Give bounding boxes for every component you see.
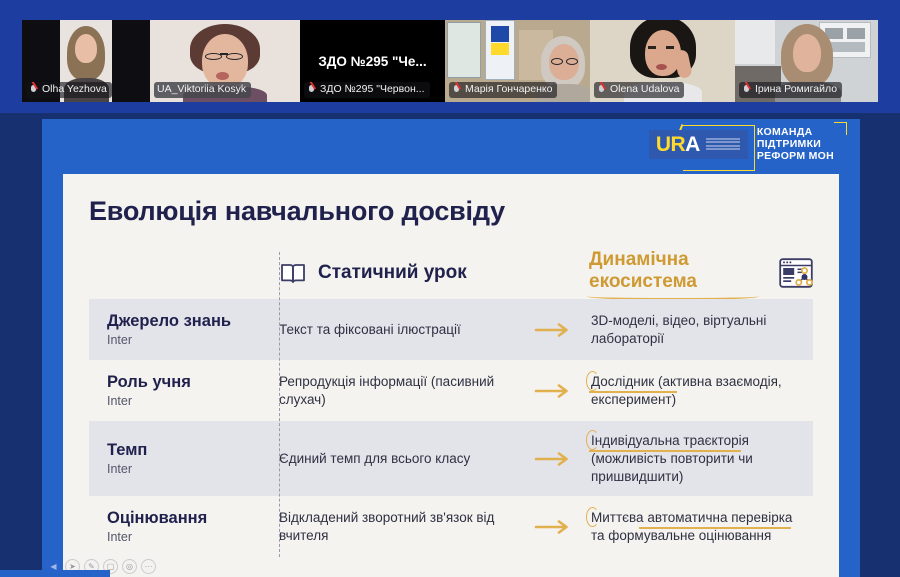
presentation-slide: URA КОМАНДА ПІДТРИМКИ РЕФОРМ МОН Еволю — [42, 119, 860, 577]
column-divider — [279, 252, 280, 557]
more-icon[interactable]: ··· — [141, 559, 156, 574]
row-arrow-cell — [525, 496, 587, 557]
spotlight-icon[interactable]: ◎ — [122, 559, 137, 574]
logo-subtext-lines — [706, 138, 740, 151]
participant-tile-3[interactable]: ЗДО №295 "Че... ЗДО №295 "Червон... — [300, 20, 445, 102]
row-term: Темп — [107, 441, 255, 460]
mic-off-icon — [29, 84, 38, 96]
highlight-circle-annotation — [586, 371, 599, 391]
participant-name: Olena Udalova — [610, 83, 679, 96]
team-line-2: ПІДТРИМКИ — [757, 138, 834, 150]
participant-name: Марія Гончаренко — [465, 83, 552, 96]
slide-content-card: Еволюція навчального досвіду — [63, 174, 839, 577]
row-dynamic-cell: 3D-моделі, відео, віртуальні лабораторії — [587, 299, 813, 360]
row-term: Роль учня — [107, 373, 255, 392]
participant-label-1: Olha Yezhova — [26, 82, 112, 98]
header-cell-static: Статичний урок — [263, 261, 525, 285]
logo-mark: URA — [649, 130, 748, 159]
participant-tile-2[interactable]: UA_Viktoriia Kosyk — [150, 20, 300, 102]
row-static-cell: Єдиний темп для всього класу — [263, 421, 525, 496]
participant-label-2: UA_Viktoriia Kosyk — [154, 82, 251, 98]
row-term: Оцінювання — [107, 509, 255, 528]
participant-tile-6[interactable]: Ірина Ромигайло — [735, 20, 878, 102]
shared-screen-stage: URA КОМАНДА ПІДТРИМКИ РЕФОРМ МОН Еволю — [0, 113, 900, 577]
browser-network-icon — [779, 258, 813, 288]
row-term-cell: Оцінювання Inter — [89, 496, 263, 557]
highlight-underline-annotation — [589, 391, 677, 393]
table-row: Роль учня Inter Репродукція інформації (… — [89, 360, 813, 421]
row-term-cell: Темп Inter — [89, 421, 263, 496]
participant-label-6: Ірина Ромигайло — [739, 82, 842, 98]
row-term-cell: Джерело знань Inter — [89, 299, 263, 360]
highlight-circle-annotation — [586, 430, 599, 450]
logo-mark-second: A — [685, 133, 700, 156]
table-header-row: Статичний урок Динамічна екосистема — [89, 246, 813, 299]
row-static-cell: Текст та фіксовані ілюстрації — [263, 299, 525, 360]
participant-name: ЗДО №295 "Червон... — [320, 83, 425, 96]
participant-name: UA_Viktoriia Kosyk — [157, 83, 246, 96]
participant-tile-1[interactable]: Olha Yezhova — [22, 20, 150, 102]
team-line-3: РЕФОРМ МОН — [757, 150, 834, 162]
highlight-underline-annotation — [589, 450, 741, 452]
team-label: КОМАНДА ПІДТРИМКИ РЕФОРМ МОН — [757, 126, 846, 162]
ura-logo: URA КОМАНДА ПІДТРИМКИ РЕФОРМ МОН — [649, 126, 846, 162]
row-dynamic-cell: Індивідуальна траєкторія (можливість пов… — [587, 421, 813, 496]
row-arrow-cell — [525, 360, 587, 421]
participant-label-4: Марія Гончаренко — [449, 82, 557, 98]
team-line-1: КОМАНДА — [757, 126, 834, 138]
row-arrow-cell — [525, 421, 587, 496]
video-filmstrip: Olha Yezhova UA_Viktoriia Kosyk — [0, 0, 900, 113]
participant-tile-5[interactable]: Olena Udalova — [590, 20, 735, 102]
row-dynamic-text: Індивідуальна траєкторія (можливість пов… — [591, 433, 753, 484]
comparison-table: Статичний урок Динамічна екосистема — [89, 246, 813, 557]
participant-tile-4[interactable]: Марія Гончаренко — [445, 20, 590, 102]
row-static-cell: Репродукція інформації (пасивний слухач) — [263, 360, 525, 421]
row-static-cell: Відкладений зворотний зв'язок від вчител… — [263, 496, 525, 557]
slide-header: URA КОМАНДА ПІДТРИМКИ РЕФОРМ МОН — [42, 119, 860, 174]
row-arrow-cell — [525, 299, 587, 360]
mic-off-icon — [742, 84, 751, 96]
highlight-underline-annotation — [639, 527, 791, 529]
arrow-right-icon — [534, 383, 578, 399]
row-dynamic-cell: Миттєва автоматична перевірка та формува… — [587, 496, 813, 557]
row-subtitle: Inter — [107, 332, 255, 348]
arrow-right-icon — [534, 519, 578, 535]
row-term: Джерело знань — [107, 312, 255, 331]
dynamic-column-title: Динамічна екосистема — [589, 249, 697, 292]
header-cell-dynamic: Динамічна екосистема — [587, 249, 813, 297]
highlight-circle-annotation — [586, 507, 599, 527]
row-dynamic-text: 3D-моделі, відео, віртуальні лабораторії — [591, 312, 803, 348]
row-subtitle: Inter — [107, 393, 255, 409]
participant-tiles: Olha Yezhova UA_Viktoriia Kosyk — [22, 20, 878, 102]
stage-bottom-stripe — [0, 570, 110, 577]
slide-title: Еволюція навчального досвіду — [89, 196, 813, 227]
mic-off-icon — [597, 84, 606, 96]
arrow-right-icon — [534, 322, 578, 338]
arrow-right-icon — [534, 451, 578, 467]
table-row: Оцінювання Inter Відкладений зворотний з… — [89, 496, 813, 557]
participant-label-3: ЗДО №295 "Червон... — [304, 82, 430, 98]
row-term-cell: Роль учня Inter — [89, 360, 263, 421]
static-column-title: Статичний урок — [318, 262, 467, 284]
row-dynamic-cell: Дослідник (активна взаємодія, експеримен… — [587, 360, 813, 421]
table-row: Темп Inter Єдиний темп для всього класу — [89, 421, 813, 496]
row-subtitle: Inter — [107, 461, 255, 477]
participant-name: Ірина Ромигайло — [755, 83, 837, 96]
logo-mark-first: UR — [656, 133, 685, 156]
row-subtitle: Inter — [107, 529, 255, 545]
open-book-icon — [279, 261, 307, 285]
mic-off-icon — [452, 84, 461, 96]
logo-corner-decoration — [834, 122, 847, 135]
mic-off-icon — [307, 84, 316, 96]
participant-name: Olha Yezhova — [42, 83, 107, 96]
table-row: Джерело знань Inter Текст та фіксовані і… — [89, 299, 813, 360]
participant-label-5: Olena Udalova — [594, 82, 684, 98]
